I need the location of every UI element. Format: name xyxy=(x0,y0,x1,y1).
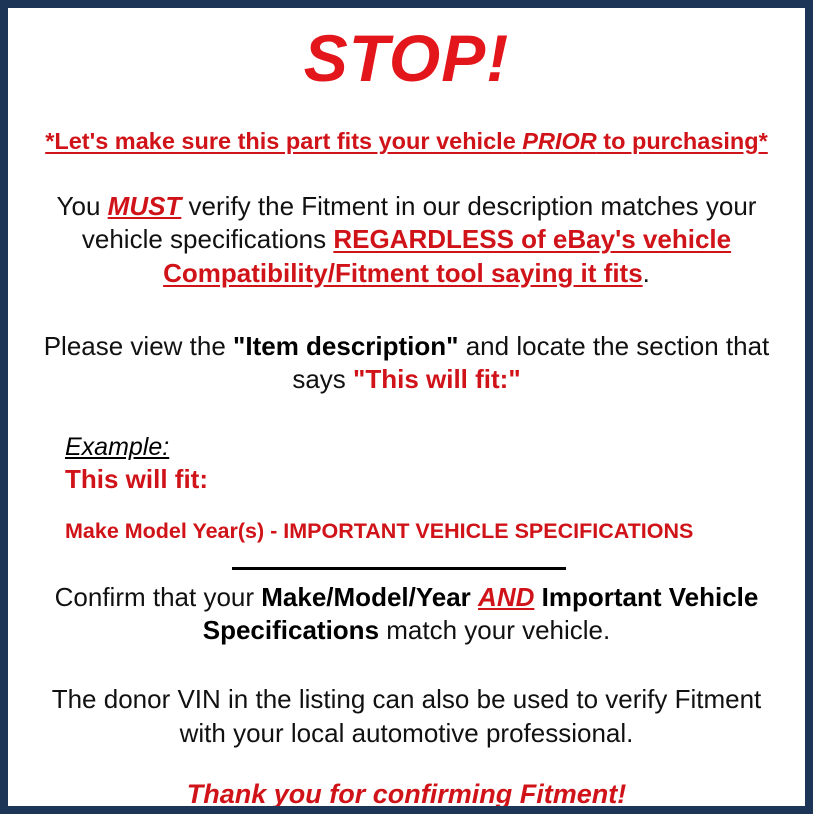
subheading-prefix: *Let's make sure this part fits your veh… xyxy=(45,128,522,154)
stop-heading: STOP! xyxy=(18,22,795,95)
subheading-suffix: to purchasing* xyxy=(597,128,768,154)
paragraph-item-description: Please view the "Item description" and l… xyxy=(18,330,795,397)
example-fit-line: This will fit: xyxy=(65,464,795,495)
confirm-part2 xyxy=(471,582,478,612)
confirm-part1: Confirm that your xyxy=(55,582,262,612)
view-part1: Please view the xyxy=(44,331,233,361)
confirm-part3 xyxy=(534,582,541,612)
must-part3: . xyxy=(643,258,650,288)
emphasis-item-description: "Item description" xyxy=(233,331,458,361)
closing-thank-you: Thank you for confirming Fitment! xyxy=(18,778,795,810)
notice-content: STOP! *Let's make sure this part fits yo… xyxy=(8,8,805,806)
horizontal-rule-icon xyxy=(232,567,566,570)
paragraph-donor-vin: The donor VIN in the listing can also be… xyxy=(18,683,795,750)
paragraph-confirm: Confirm that your Make/Model/Year AND Im… xyxy=(18,581,795,648)
subheading-line: *Let's make sure this part fits your veh… xyxy=(18,127,795,156)
subheading-emphasis-prior: PRIOR xyxy=(522,128,596,154)
emphasis-make-model-year: Make/Model/Year xyxy=(261,582,471,612)
emphasis-this-will-fit: "This will fit:" xyxy=(353,364,521,394)
emphasis-must: MUST xyxy=(108,191,182,221)
example-block: Example: This will fit: Make Model Year(… xyxy=(18,434,795,544)
must-part1: You xyxy=(57,191,108,221)
example-label: Example: xyxy=(65,434,795,462)
paragraph-must-verify: You MUST verify the Fitment in our descr… xyxy=(18,190,795,290)
fitment-notice-frame: STOP! *Let's make sure this part fits yo… xyxy=(0,0,813,814)
confirm-part4: match your vehicle. xyxy=(379,615,610,645)
example-spec-line: Make Model Year(s) - IMPORTANT VEHICLE S… xyxy=(65,519,795,545)
divider-wrapper xyxy=(18,567,795,581)
emphasis-and: AND xyxy=(478,582,534,612)
